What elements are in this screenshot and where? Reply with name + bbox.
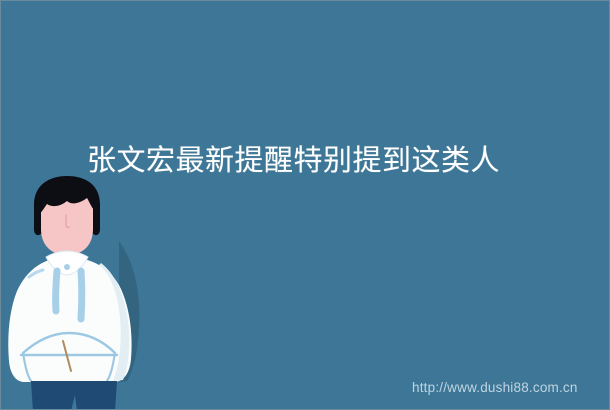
person-illustration bbox=[1, 171, 176, 410]
drawstring-left bbox=[56, 271, 57, 311]
pants bbox=[31, 381, 117, 410]
collar-button bbox=[64, 264, 70, 270]
watermark-url: http://www.dushi88.com.cn bbox=[412, 380, 578, 395]
news-poster: 张文宏最新提醒特别提到这类人 http://www.dushi88.com.cn bbox=[0, 0, 610, 410]
page-title: 张文宏最新提醒特别提到这类人 bbox=[87, 143, 557, 179]
drawstring-right bbox=[81, 271, 82, 319]
